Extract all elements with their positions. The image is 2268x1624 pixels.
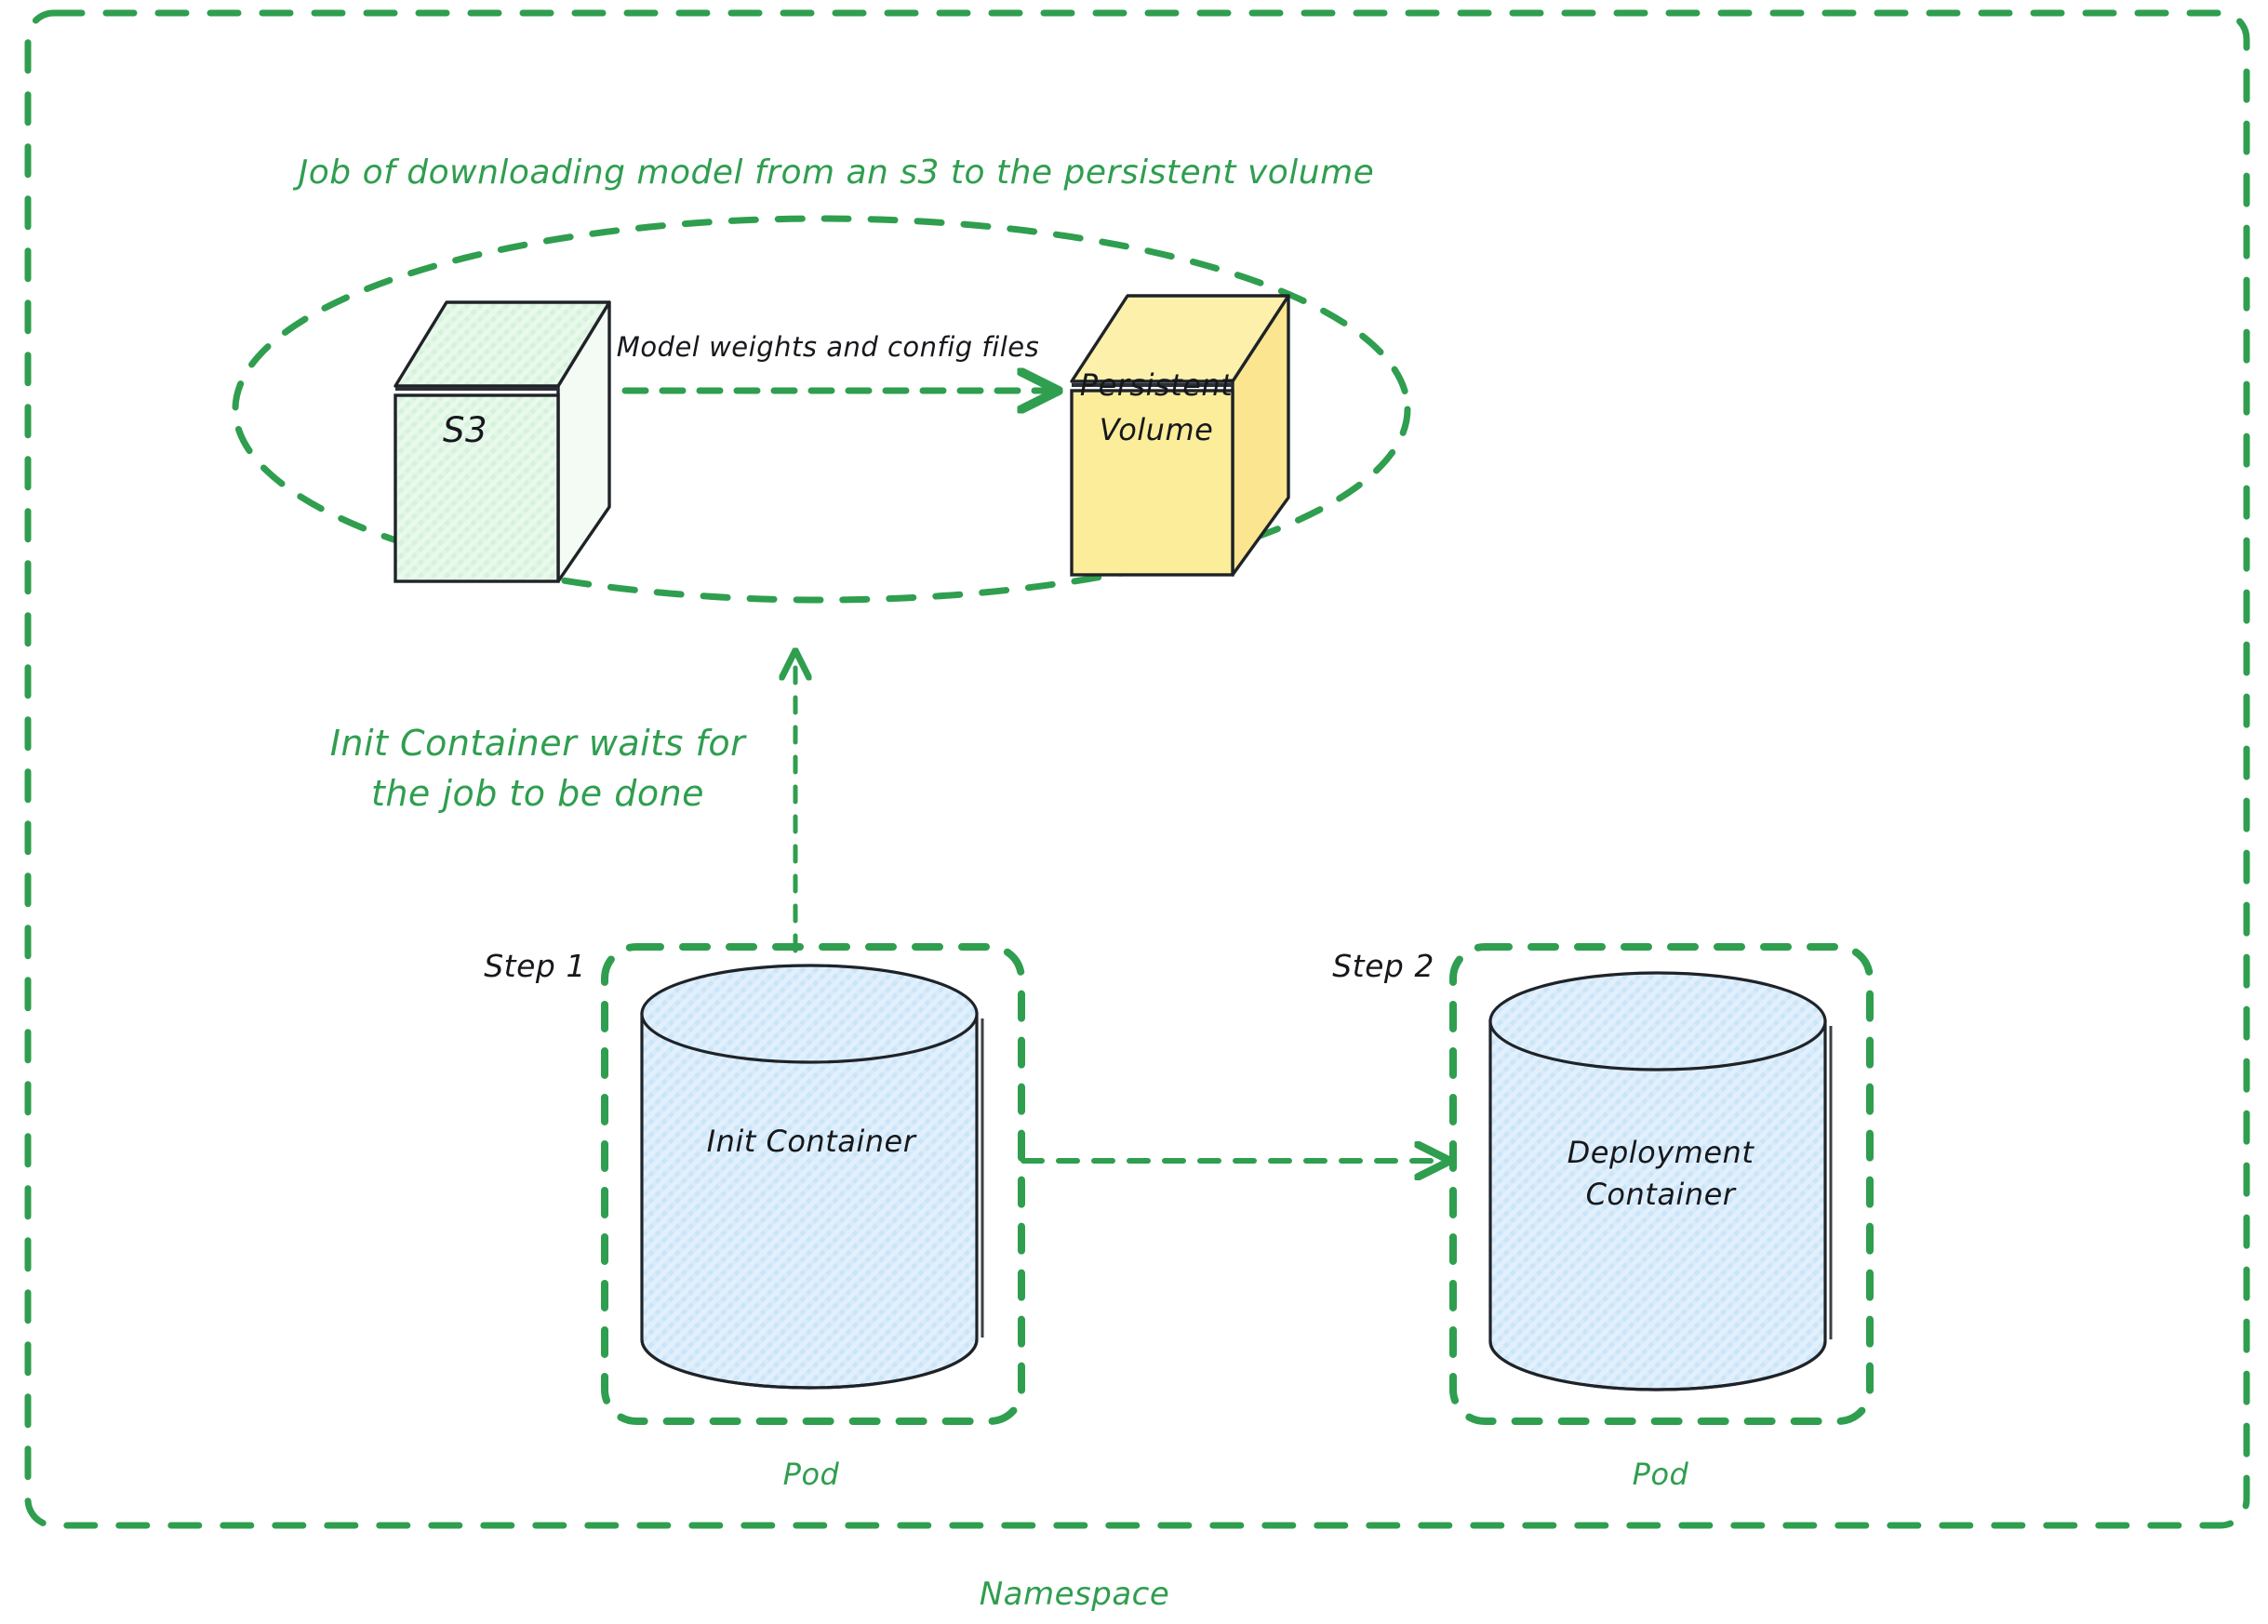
pod-label-deployment: Pod — [1633, 1457, 1689, 1493]
wait-edge-label-line1: Init Container waits for — [330, 722, 746, 765]
init-container-cylinder — [642, 965, 982, 1388]
persistent-volume-label-line2: Volume — [1100, 412, 1214, 448]
model-transfer-arrow-label: Model weights and config files — [617, 331, 1039, 364]
deployment-container-label-line2: Container — [1586, 1177, 1736, 1213]
s3-cube — [395, 302, 609, 581]
job-group-title: Job of downloading model from an s3 to t… — [299, 153, 1375, 193]
namespace-boundary — [28, 13, 2247, 1525]
wait-edge-label-line2: the job to be done — [371, 772, 704, 815]
deployment-container-label-line1: Deployment — [1568, 1135, 1754, 1171]
diagram-canvas: Job of downloading model from an s3 to t… — [0, 0, 2268, 1624]
namespace-label: Namespace — [980, 1576, 1170, 1614]
pod-label-init: Pod — [783, 1457, 840, 1493]
step-1-label: Step 1 — [484, 948, 586, 985]
init-container-label: Init Container — [707, 1124, 916, 1160]
s3-node-label: S3 — [443, 409, 487, 451]
diagram-vector-layer — [0, 0, 2268, 1624]
step-2-label: Step 2 — [1332, 948, 1434, 985]
persistent-volume-label-line1: Persistent — [1080, 367, 1233, 404]
